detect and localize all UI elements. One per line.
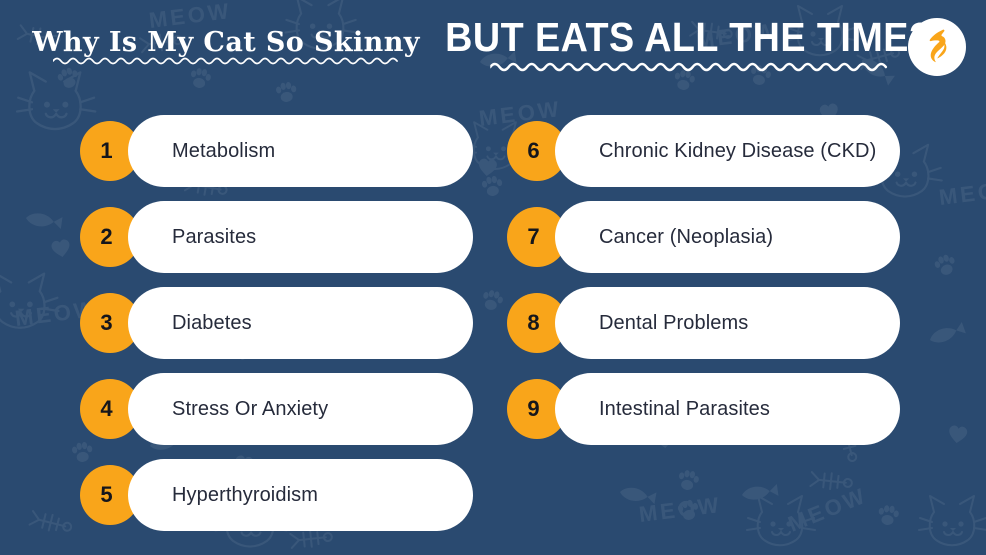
page-title-line-2: BUT EATS ALL THE TIME?	[445, 16, 932, 67]
list-item[interactable]: 3 Diabetes	[80, 287, 473, 359]
list-item[interactable]: 5 Hyperthyroidism	[80, 459, 473, 531]
list-item-pill[interactable]: Intestinal Parasites	[555, 373, 900, 445]
list-item-number: 7	[527, 226, 539, 248]
list-item-pill[interactable]: Hyperthyroidism	[128, 459, 473, 531]
list-item-number: 9	[527, 398, 539, 420]
title-squiggle-bottom	[490, 61, 887, 70]
list-item[interactable]: 7 Cancer (Neoplasia)	[507, 201, 900, 273]
cat-logo[interactable]	[908, 18, 966, 76]
header: Why Is My Cat So Skinny BUT EATS ALL THE…	[0, 14, 986, 67]
list-item-number: 6	[527, 140, 539, 162]
list-item[interactable]: 8 Dental Problems	[507, 287, 900, 359]
list-column-left: 1 Metabolism 2 Parasites 3 Diabetes	[80, 115, 473, 545]
list-item-label: Stress Or Anxiety	[172, 398, 328, 421]
list-item-label: Dental Problems	[599, 312, 748, 335]
list-item-number: 2	[100, 226, 112, 248]
list-item-number: 3	[100, 312, 112, 334]
title-squiggle-top	[53, 56, 399, 65]
list-item-label: Hyperthyroidism	[172, 484, 318, 507]
list-item-number: 1	[100, 140, 112, 162]
list-item-label: Diabetes	[172, 312, 252, 335]
list-item-number: 5	[100, 484, 112, 506]
list-item-pill[interactable]: Chronic Kidney Disease (CKD)	[555, 115, 900, 187]
list-item-number: 4	[100, 398, 112, 420]
list-item-label: Intestinal Parasites	[599, 398, 770, 421]
list-item[interactable]: 4 Stress Or Anxiety	[80, 373, 473, 445]
infographic-canvas: MEOW	[0, 0, 986, 555]
list-column-right: 6 Chronic Kidney Disease (CKD) 7 Cancer …	[507, 115, 900, 459]
list-item-number: 8	[527, 312, 539, 334]
list-item-pill[interactable]: Cancer (Neoplasia)	[555, 201, 900, 273]
list-item[interactable]: 1 Metabolism	[80, 115, 473, 187]
list-item-pill[interactable]: Diabetes	[128, 287, 473, 359]
list-item[interactable]: 2 Parasites	[80, 201, 473, 273]
page-title-line-1-text: Why Is My Cat So Skinny	[32, 27, 420, 58]
list-item-pill[interactable]: Dental Problems	[555, 287, 900, 359]
list-item-pill[interactable]: Metabolism	[128, 115, 473, 187]
list-item-label: Cancer (Neoplasia)	[599, 226, 773, 249]
list-item-pill[interactable]: Stress Or Anxiety	[128, 373, 473, 445]
cat-logo-icon	[917, 27, 957, 67]
list-item-label: Chronic Kidney Disease (CKD)	[599, 140, 876, 163]
list-item-label: Metabolism	[172, 140, 275, 163]
page-title-line-2-text: BUT EATS ALL THE TIME?	[445, 14, 932, 60]
list-item[interactable]: 6 Chronic Kidney Disease (CKD)	[507, 115, 900, 187]
page-title-line-1: Why Is My Cat So Skinny	[32, 29, 420, 62]
list-item-pill[interactable]: Parasites	[128, 201, 473, 273]
list-item[interactable]: 9 Intestinal Parasites	[507, 373, 900, 445]
list-item-label: Parasites	[172, 226, 256, 249]
